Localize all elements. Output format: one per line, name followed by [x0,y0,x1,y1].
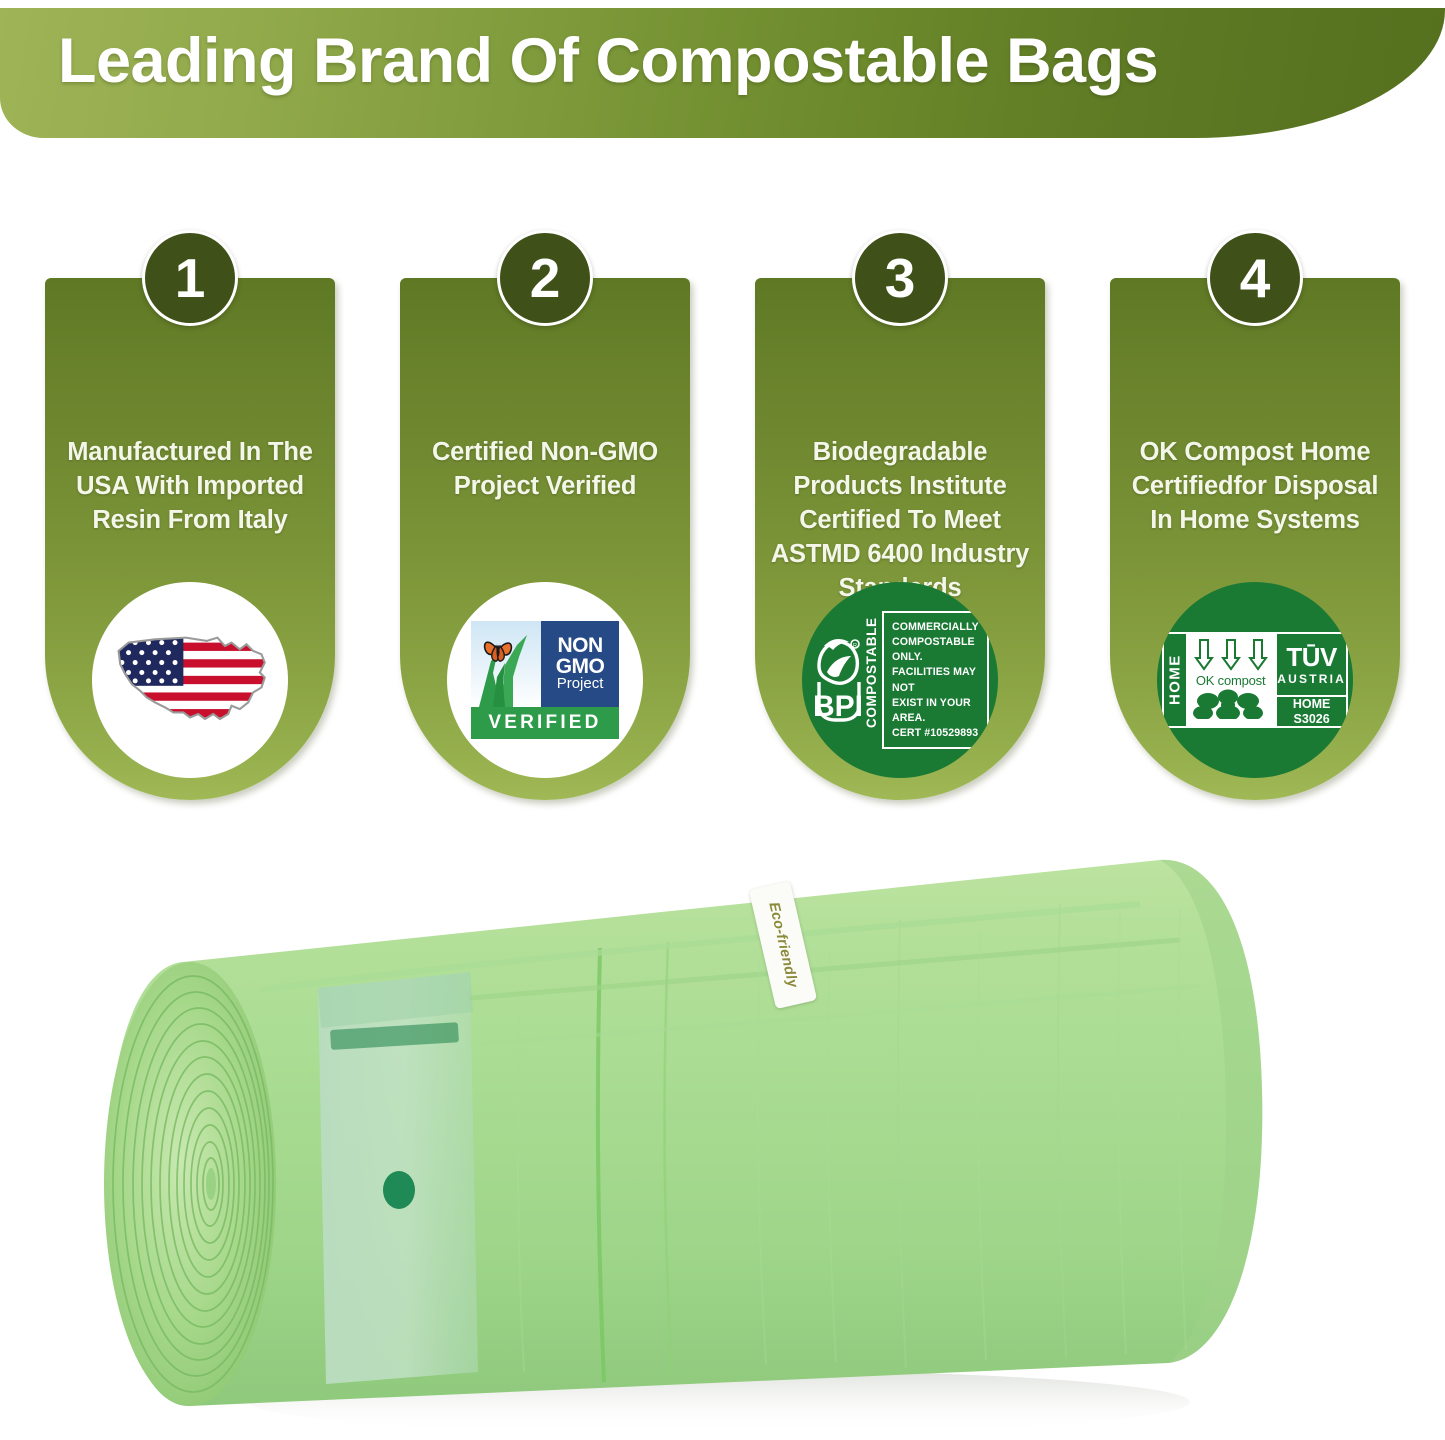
tuv-brand-country: AUSTRIA [1277,673,1346,685]
tuv-cert-block: HOME S3026 [1277,695,1346,726]
card-text-1: Manufactured In The USA With Imported Re… [53,436,327,538]
svg-text:BPI: BPI [813,690,863,723]
bpi-compostable-vertical-label: COMPOSTABLE [864,632,879,728]
card-number-badge-1: 1 [142,230,238,326]
tuv-brand-block: TŪV AUSTRIA [1277,634,1346,695]
bpi-disclaimer-line-4: EXIST IN YOUR AREA. [892,696,981,726]
feature-cards-row: 1 Manufactured In The USA With Imported … [0,228,1445,808]
bpi-logo: R BPI COMPOSTABLE COMMERCIALLY COMPOSTAB… [811,631,989,729]
bpi-disclaimer-box: COMMERCIALLY COMPOSTABLE ONLY. FACILITIE… [882,611,989,748]
down-arrow-icon [1221,638,1241,672]
page-title: Leading Brand Of Compostable Bags [58,22,1418,101]
tuv-ok-compost-home-logo: HOME OK compost [1162,632,1348,728]
non-gmo-text-panel: NON GMO Project [541,621,619,707]
non-gmo-verified-banner: VERIFIED [471,707,619,739]
header-banner: Leading Brand Of Compostable Bags [0,8,1445,138]
down-arrow-icon [1194,638,1214,672]
bpi-disclaimer-line-2: COMPOSTABLE ONLY. [892,635,981,665]
card-text-4: OK Compost Home Certifiedfor Disposal In… [1118,436,1392,538]
non-gmo-line-project: Project [557,677,604,692]
non-gmo-logo: NON GMO Project VERIFIED [469,619,621,741]
compostable-bag-roll-image [0,812,1445,1435]
bpi-disclaimer-line-1: COMMERCIALLY [892,620,981,635]
down-arrow-icon [1248,638,1268,672]
down-arrows-icon-group [1194,638,1268,672]
bpi-compostable-badge: R BPI COMPOSTABLE COMMERCIALLY COMPOSTAB… [802,582,998,778]
non-gmo-line-gmo: GMO [556,657,605,678]
tuv-brand-panel: TŪV AUSTRIA HOME S3026 [1275,634,1346,726]
card-number-badge-2: 2 [497,230,593,326]
tuv-cert-line-2: S3026 [1294,712,1330,726]
card-text-3: Biodegradable Products Institute Certifi… [763,436,1037,606]
feature-card-2[interactable]: 2 Certified Non-GMO Project Verified [400,278,690,800]
non-gmo-line-non: NON [557,636,602,657]
bpi-cert-number: CERT #10529893 [892,726,981,741]
bpi-leaf-mark-icon: R BPI [811,632,863,728]
feature-card-1[interactable]: 1 Manufactured In The USA With Imported … [45,278,335,800]
eco-friendly-tag-label: Eco-friendly [765,901,800,990]
butterfly-grass-icon [471,621,541,707]
feature-card-4[interactable]: 4 OK Compost Home Certifiedfor Disposal … [1110,278,1400,800]
card-number-badge-3: 3 [852,230,948,326]
card-number-badge-4: 4 [1207,230,1303,326]
card-text-2: Certified Non-GMO Project Verified [408,436,682,504]
feature-card-3[interactable]: 3 Biodegradable Products Institute Certi… [755,278,1045,800]
non-gmo-logo-top: NON GMO Project [471,621,619,707]
tuv-ok-compost-label: OK compost [1196,673,1266,688]
tuv-brand-name: TŪV [1286,644,1337,670]
tuv-home-vertical-label: HOME [1164,634,1186,726]
usa-flag-map-icon [106,626,274,734]
product-image-area [0,812,1445,1435]
svg-text:R: R [853,643,857,649]
tuv-austria-ok-compost-home-badge: HOME OK compost [1157,582,1353,778]
usa-flag-map-badge [92,582,288,778]
non-gmo-project-verified-badge: NON GMO Project VERIFIED [447,582,643,778]
tuv-cert-line-1: HOME [1293,697,1331,711]
compost-plant-icon [1188,689,1274,719]
tuv-compost-panel: OK compost [1186,634,1275,726]
bpi-disclaimer-line-3: FACILITIES MAY NOT [892,665,981,695]
